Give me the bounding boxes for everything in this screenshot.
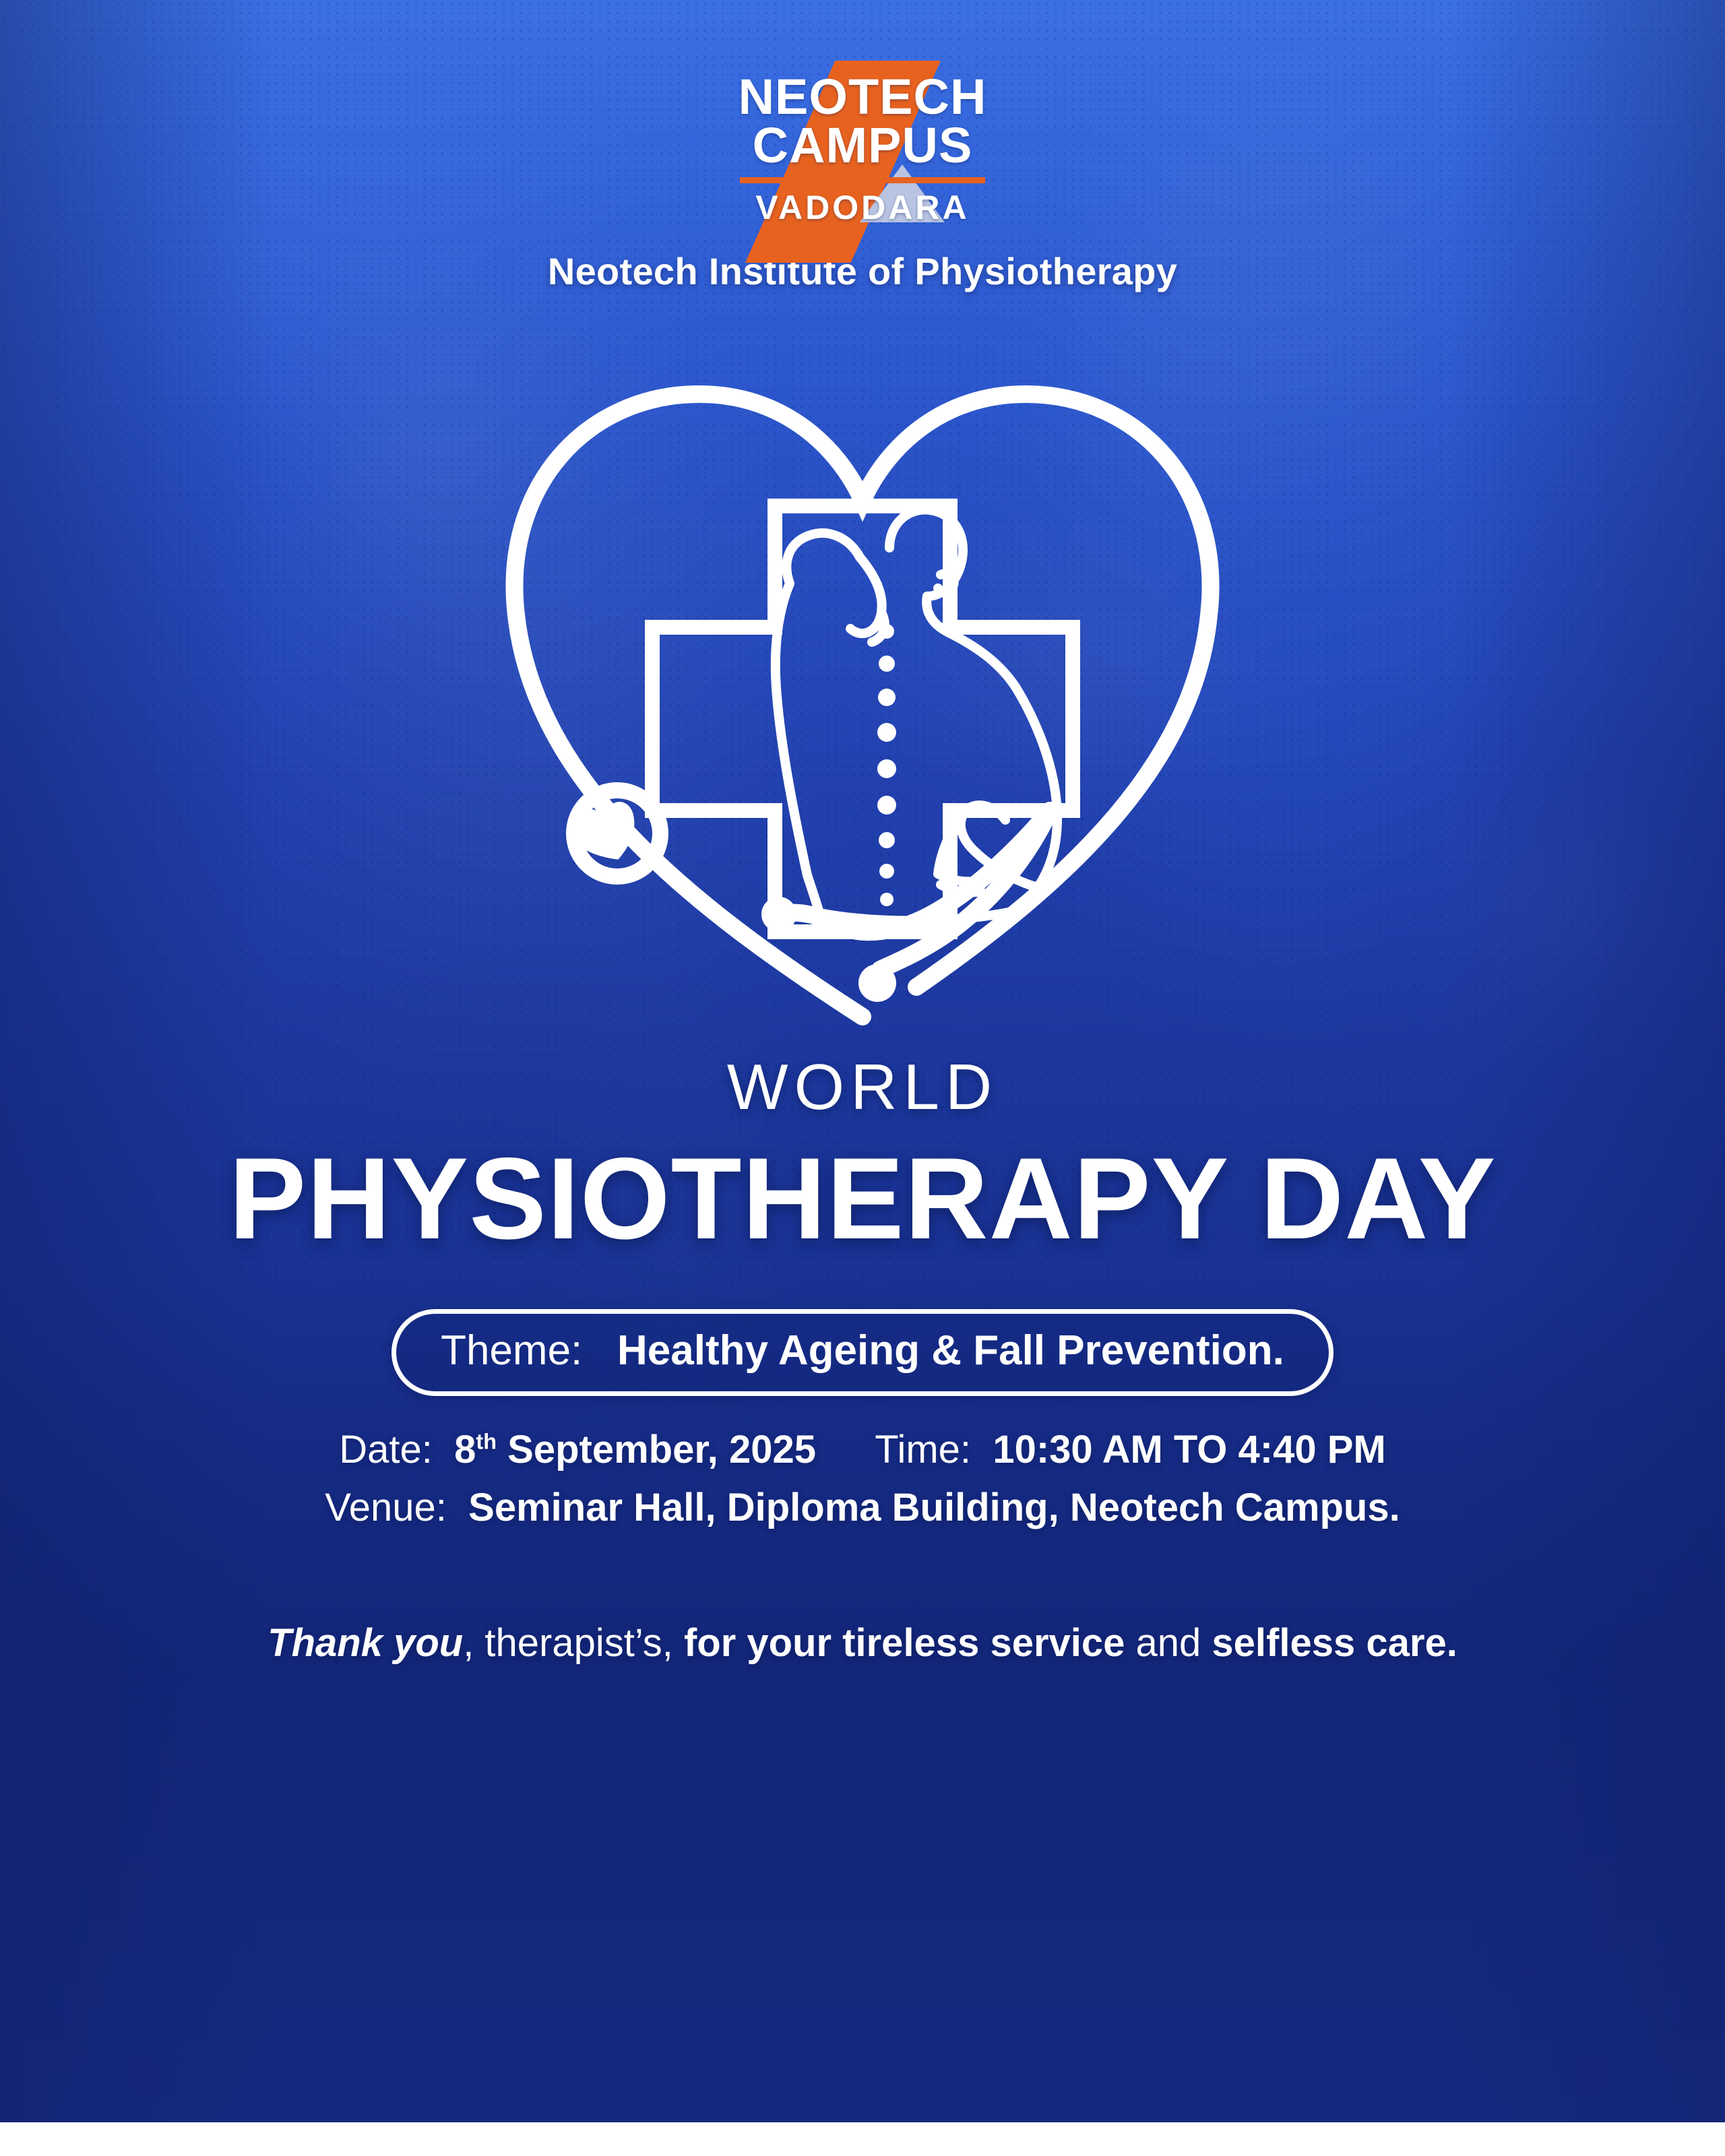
tagline-tireless-service: for your tireless service [684,1621,1125,1665]
theme-badge: Theme: Healthy Ageing & Fall Prevention. [391,1309,1334,1396]
neotech-campus-logo: NEOTECH CAMPUS VADODARA [721,65,1004,239]
logo-line-neotech: NEOTECH [739,73,987,121]
date-rest: September, 2025 [507,1428,816,1471]
time-label: Time: [875,1428,971,1471]
tagline-thank-you: Thank you [268,1621,463,1665]
venue-value: Seminar Hall, Diploma Building, Neotech … [468,1486,1400,1529]
thank-you-tagline: Thank you, therapist’s, for your tireles… [268,1620,1457,1666]
tagline-and: and [1125,1621,1212,1665]
stethoscope-ear-tip-left [761,897,796,932]
dotted-spine-icon [877,624,896,906]
stethoscope-ear-tip-right [858,964,896,1002]
theme-label: Theme: [441,1327,582,1374]
physiotherapy-emblem [485,311,1240,1085]
theme-value: Healthy Ageing & Fall Prevention. [617,1327,1284,1374]
date-day: 8 [454,1428,476,1471]
date-label: Date: [339,1428,433,1471]
venue-row: Venue: Seminar Hall, Diploma Building, N… [325,1485,1400,1531]
poster-canvas: NEOTECH CAMPUS VADODARA Neotech Institut… [0,0,1725,2122]
emblem-svg [485,311,1240,1085]
logo-line-vadodara: VADODARA [755,188,969,227]
stethoscope-earpieces-icon [787,811,1050,970]
tagline-selfless-care: selfless care. [1212,1621,1457,1665]
poster-content: NEOTECH CAMPUS VADODARA Neotech Institut… [0,0,1725,2122]
tagline-therapists: , therapist’s, [463,1621,684,1665]
page-title: PHYSIOTHERAPY DAY [229,1141,1497,1257]
logo-wordmark: NEOTECH CAMPUS VADODARA [721,65,1004,239]
headline-kicker: WORLD [727,1050,998,1124]
logo-orange-rule [740,177,985,183]
logo-line-campus: CAMPUS [753,121,973,170]
time-value: 10:30 AM TO 4:40 PM [993,1428,1385,1471]
stethoscope-chestpiece-icon [566,790,660,877]
institute-name: Neotech Institute of Physiotherapy [548,249,1177,293]
date-time-row: Date: 8th September, 2025 Time: 10:30 AM… [339,1427,1386,1473]
date-ordinal: th [476,1430,497,1454]
venue-label: Venue: [325,1486,447,1529]
page-bottom-whitespace [0,2122,1725,2156]
